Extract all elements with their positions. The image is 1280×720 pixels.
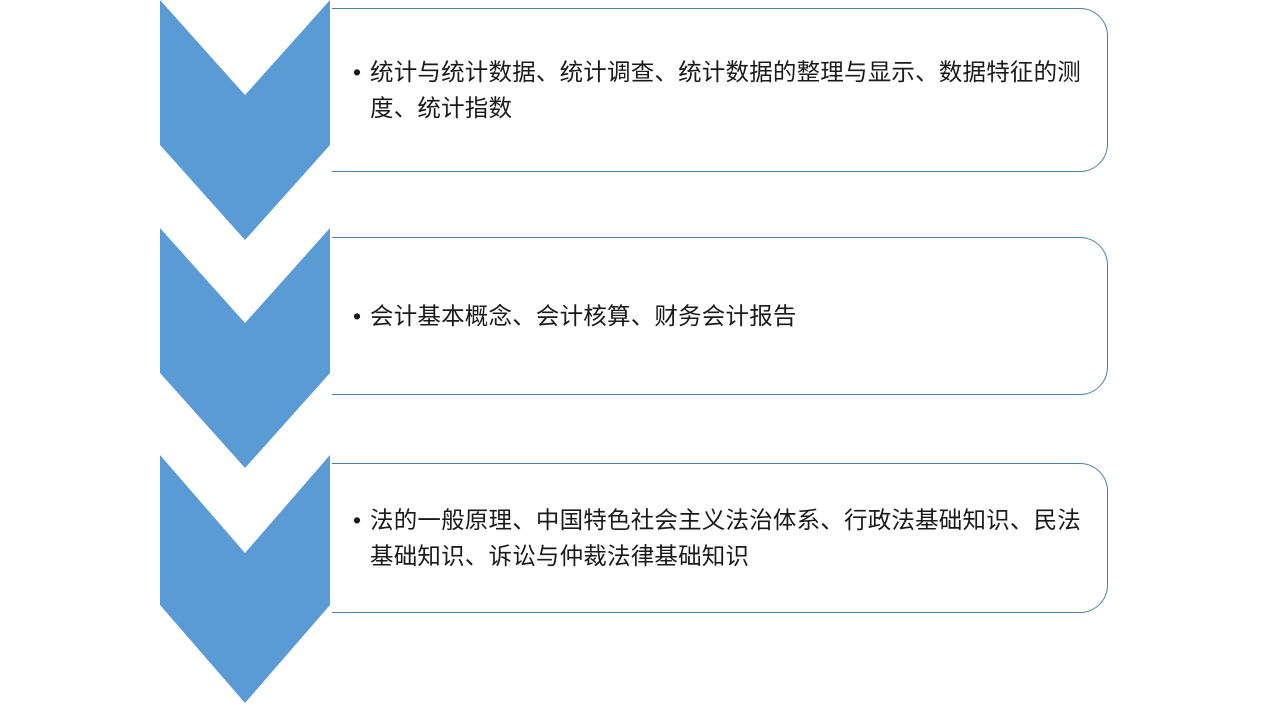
content-text-3: 法的一般原理、中国特色社会主义法治体系、行政法基础知识、民法基础知识、诉讼与仲裁…: [370, 502, 1089, 574]
content-text-1: 统计与统计数据、统计调查、统计数据的整理与显示、数据特征的测度、统计指数: [370, 54, 1089, 126]
chevron-icon: [160, 228, 330, 468]
chevron-label-2: 会 计: [0, 346, 170, 383]
bullet-icon-1: •: [344, 54, 370, 90]
content-box-3[interactable]: • 法的一般原理、中国特色社会主义法治体系、行政法基础知识、民法基础知识、诉讼与…: [332, 463, 1108, 613]
content-inner-1: • 统计与统计数据、统计调查、统计数据的整理与显示、数据特征的测度、统计指数: [332, 54, 1107, 126]
content-inner-3: • 法的一般原理、中国特色社会主义法治体系、行政法基础知识、民法基础知识、诉讼与…: [332, 502, 1107, 574]
chevron-shape-1[interactable]: [160, 0, 330, 240]
content-inner-2: • 会计基本概念、会计核算、财务会计报告: [332, 298, 1107, 334]
chevron-shape-2[interactable]: [160, 228, 330, 468]
chevron-label-1: 统 计: [0, 118, 170, 155]
slide-canvas: 统 计 • 统计与统计数据、统计调查、统计数据的整理与显示、数据特征的测度、统计…: [0, 0, 1280, 720]
content-box-1[interactable]: • 统计与统计数据、统计调查、统计数据的整理与显示、数据特征的测度、统计指数: [332, 8, 1108, 172]
chevron-label-3: 法 律: [0, 577, 170, 614]
content-text-2: 会计基本概念、会计核算、财务会计报告: [370, 298, 1089, 334]
bullet-icon-2: •: [344, 298, 370, 334]
content-box-2[interactable]: • 会计基本概念、会计核算、财务会计报告: [332, 237, 1108, 395]
bullet-icon-3: •: [344, 502, 370, 538]
chevron-shape-3[interactable]: [160, 455, 330, 703]
chevron-icon: [160, 0, 330, 240]
chevron-icon: [160, 455, 330, 703]
